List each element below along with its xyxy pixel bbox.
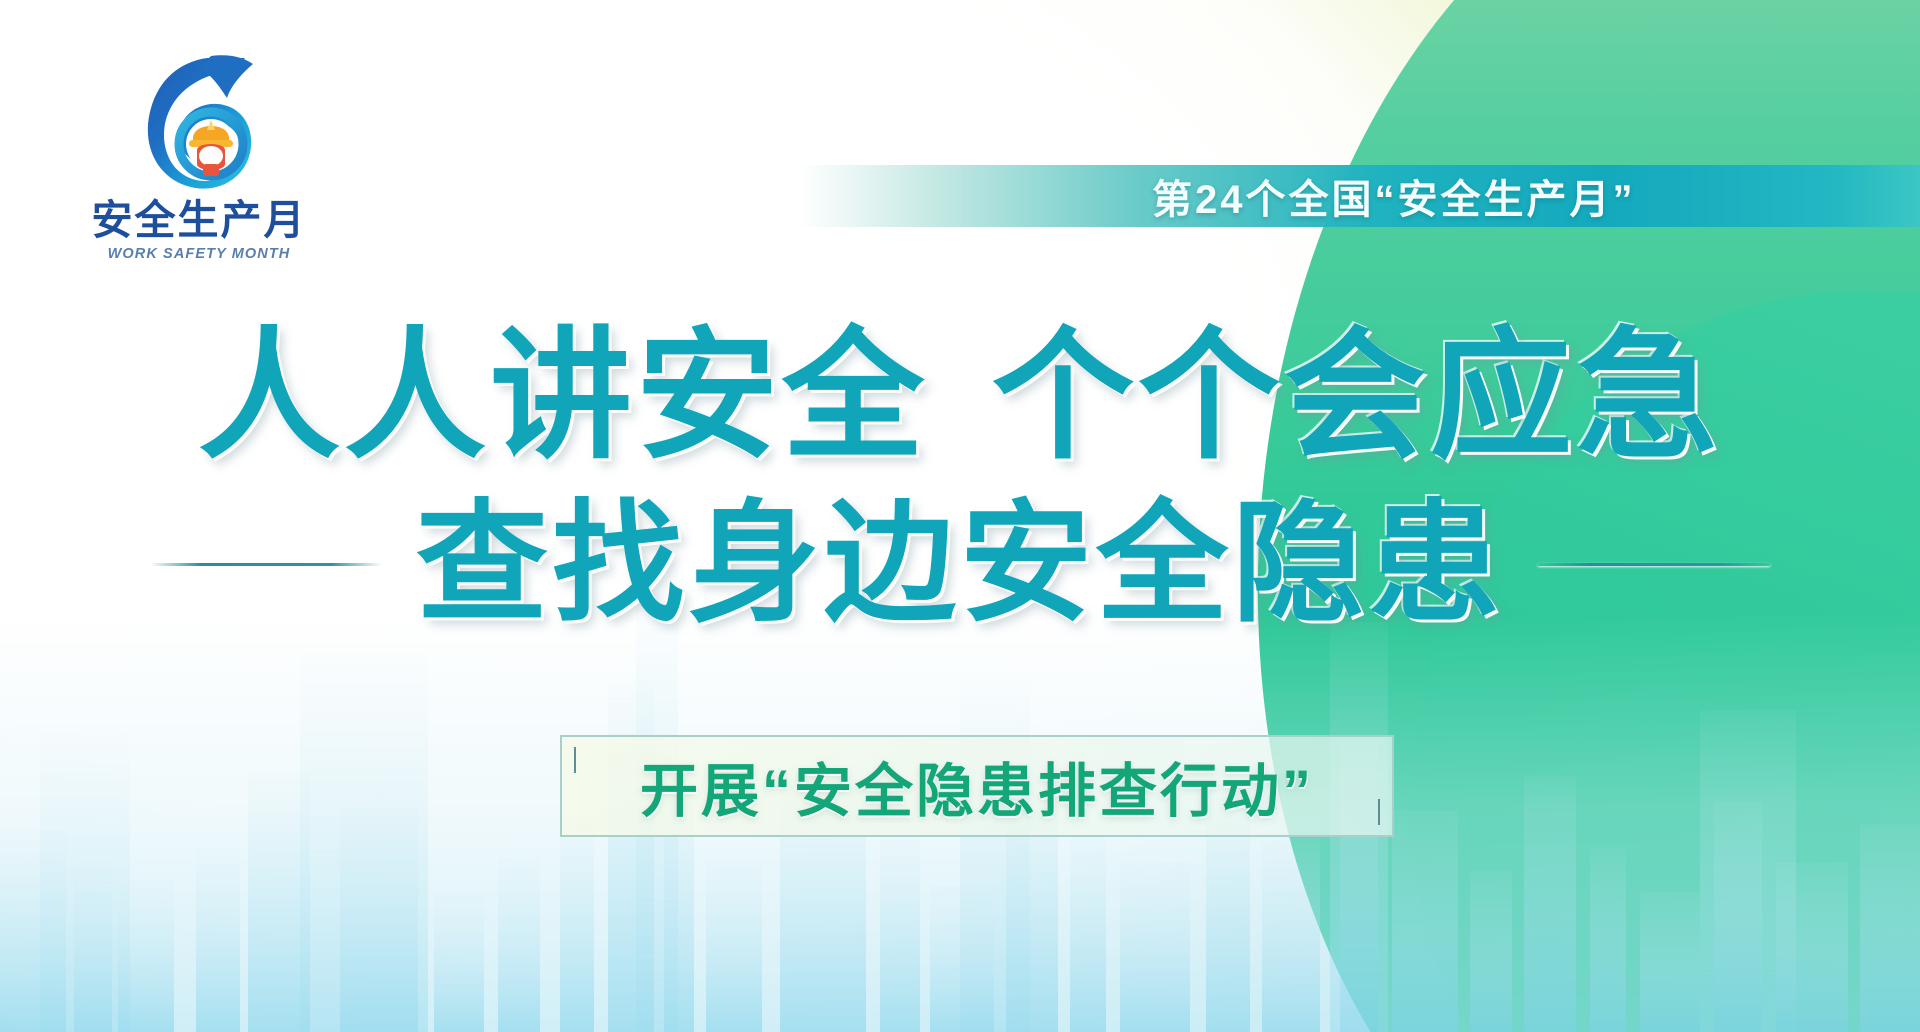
headline-line-1: 人人讲安全个个会应急 [0, 320, 1920, 473]
headline-line-1-part-a: 人人讲安全 [198, 317, 928, 476]
edition-banner: 第24个全国“安全生产月” [800, 165, 1920, 227]
poster-root: 安全生产月 WORK SAFETY MONTH 第24个全国“安全生产月” 人人… [0, 0, 1920, 1032]
action-callout-box: 开展“安全隐患排查行动” [560, 735, 1394, 837]
logo-6-swoosh-icon [115, 46, 283, 198]
work-safety-month-logo: 安全生产月 WORK SAFETY MONTH [84, 46, 314, 262]
headline-line-1-part-b: 个个会应急 [992, 317, 1722, 476]
logo-chinese-title: 安全生产月 [84, 200, 314, 241]
corner-tick-top-left [574, 747, 576, 773]
corner-tick-bottom-right [1378, 799, 1380, 825]
edition-banner-text: 第24个全国“安全生产月” [1152, 167, 1636, 225]
logo-english-title: WORK SAFETY MONTH [84, 246, 314, 262]
headline-line-2-row: 查找身边安全隐患 [0, 495, 1920, 634]
rule-right-decoration [1538, 563, 1770, 566]
headline-block: 人人讲安全个个会应急 查找身边安全隐患 [0, 320, 1920, 634]
action-callout-text: 开展“安全隐患排查行动” [640, 744, 1314, 828]
headline-line-2: 查找身边安全隐患 [416, 495, 1504, 634]
rule-left-decoration [150, 563, 382, 566]
